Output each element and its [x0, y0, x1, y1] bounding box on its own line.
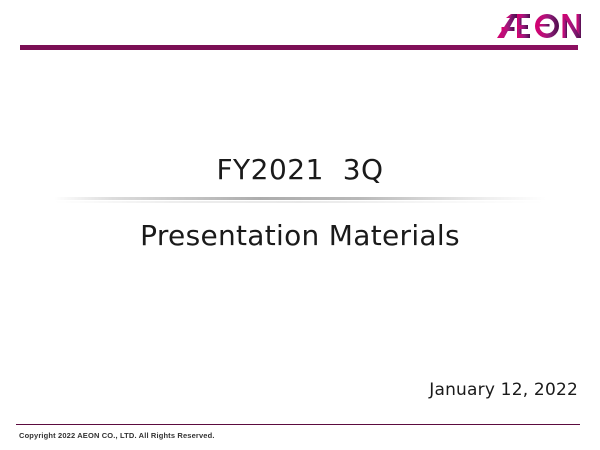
- title-slide: FY2021 3Q Presentation Materials January…: [0, 0, 600, 450]
- header-divider-rule: [20, 45, 578, 50]
- footer-divider-rule: [16, 424, 580, 425]
- page-subtitle: Presentation Materials: [0, 217, 600, 255]
- aeon-logo: [497, 12, 581, 42]
- page-title: FY2021 3Q: [0, 150, 600, 190]
- title-divider: [54, 197, 546, 200]
- slide-header: [0, 0, 600, 56]
- title-block: FY2021 3Q Presentation Materials: [0, 150, 600, 255]
- copyright-notice: Copyright 2022 AEON CO., LTD. All Rights…: [19, 431, 215, 440]
- title-divider-shadow: [54, 201, 546, 203]
- presentation-date: January 12, 2022: [429, 380, 578, 400]
